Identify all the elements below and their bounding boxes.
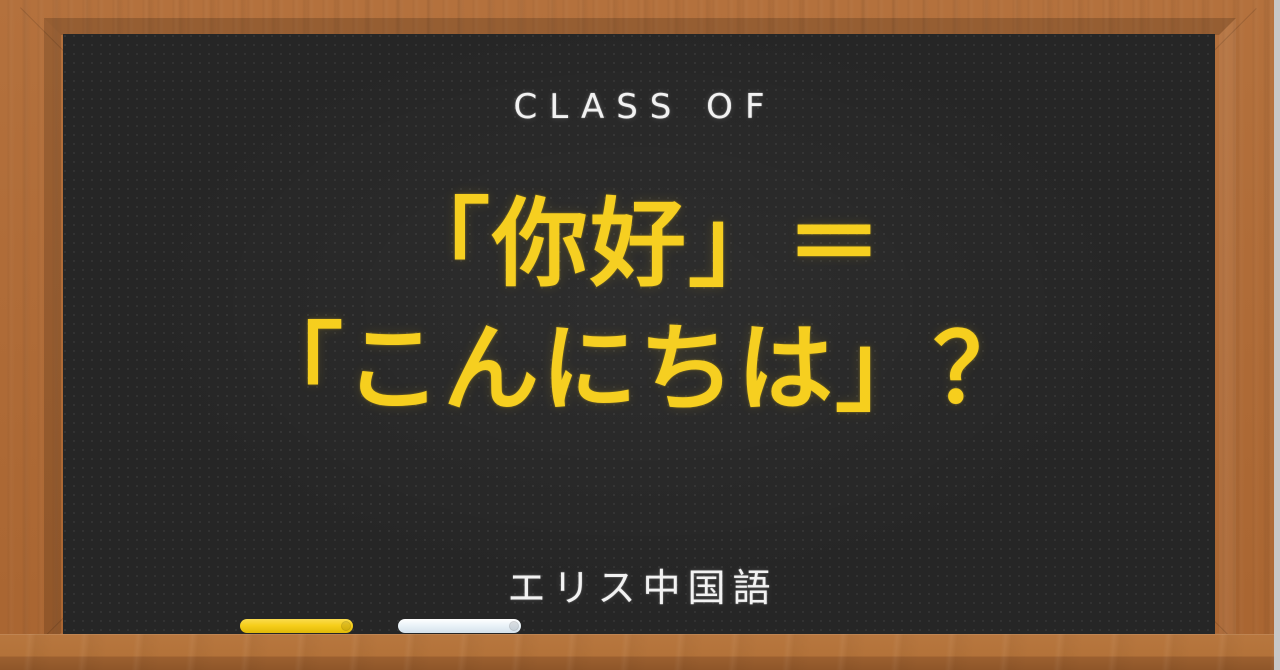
chalkboard: CLASS OF 「你好」＝ 「こんにちは」？ エリス中国語 xyxy=(63,34,1215,634)
yellow-chalk-tip xyxy=(341,621,351,631)
headline: 「你好」＝ 「こんにちは」？ xyxy=(63,182,1215,432)
headline-line-2: 「こんにちは」？ xyxy=(63,307,1215,432)
brand-label: エリス中国語 xyxy=(63,557,1215,612)
chalk-tray-ledge xyxy=(0,634,1274,670)
right-gutter-strip xyxy=(1274,0,1280,670)
white-chalk-stick xyxy=(398,619,521,633)
yellow-chalk-stick xyxy=(240,619,353,633)
headline-line-1: 「你好」＝ xyxy=(63,182,1215,307)
chalkboard-content: CLASS OF 「你好」＝ 「こんにちは」？ エリス中国語 xyxy=(63,34,1215,634)
slide-stage: CLASS OF 「你好」＝ 「こんにちは」？ エリス中国語 xyxy=(0,0,1280,670)
eyebrow-label: CLASS OF xyxy=(63,87,1215,127)
white-chalk-tip xyxy=(509,621,519,631)
